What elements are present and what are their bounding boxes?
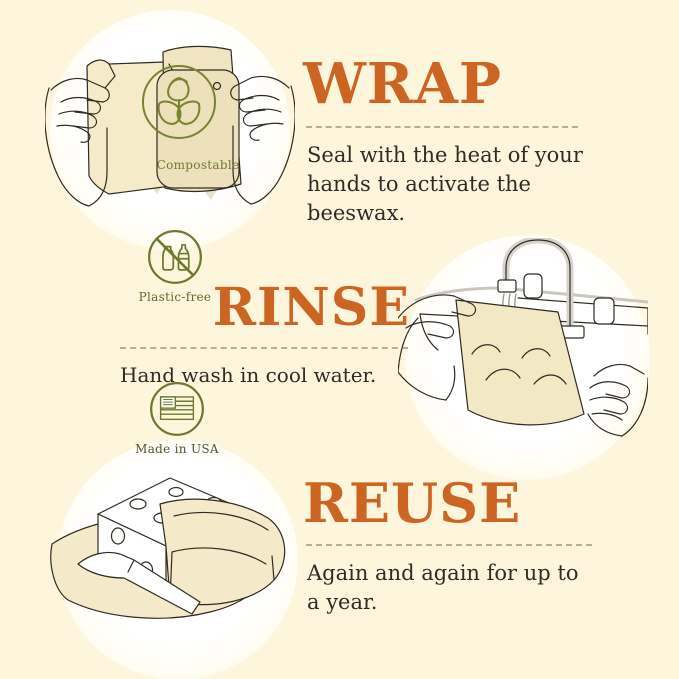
step-block-rinse: RINSE Hand wash in cool water. <box>120 283 410 390</box>
compostable-badge-label: Compostable <box>128 158 268 172</box>
divider-reuse <box>306 544 592 546</box>
heading-reuse: REUSE <box>303 478 593 530</box>
body-text-wrap: Seal with the heat of your hands to acti… <box>303 141 583 228</box>
beeswax-wrap-care-infographic: Compostable WRAP Seal with the heat of y… <box>0 0 679 679</box>
body-text-reuse: Again and again for up to a year. <box>303 559 593 617</box>
hands-rinsing-wrap-under-faucet-icon <box>398 238 648 453</box>
no-plastic-bottles-icon <box>144 226 206 288</box>
step-block-reuse: REUSE Again and again for up to a year. <box>303 478 593 617</box>
hands-wrapping-food-icon <box>45 18 295 248</box>
usa-flag-circle-icon <box>146 378 208 440</box>
step-block-wrap: WRAP Seal with the heat of your hands to… <box>303 58 583 228</box>
divider-wrap <box>306 126 578 128</box>
heading-rinse: RINSE <box>120 283 410 333</box>
heading-wrap: WRAP <box>303 58 583 112</box>
made-in-usa-badge: Made in USA <box>112 378 242 456</box>
wrapped-cheese-block-with-knife-icon <box>42 452 307 652</box>
divider-rinse <box>120 347 408 349</box>
